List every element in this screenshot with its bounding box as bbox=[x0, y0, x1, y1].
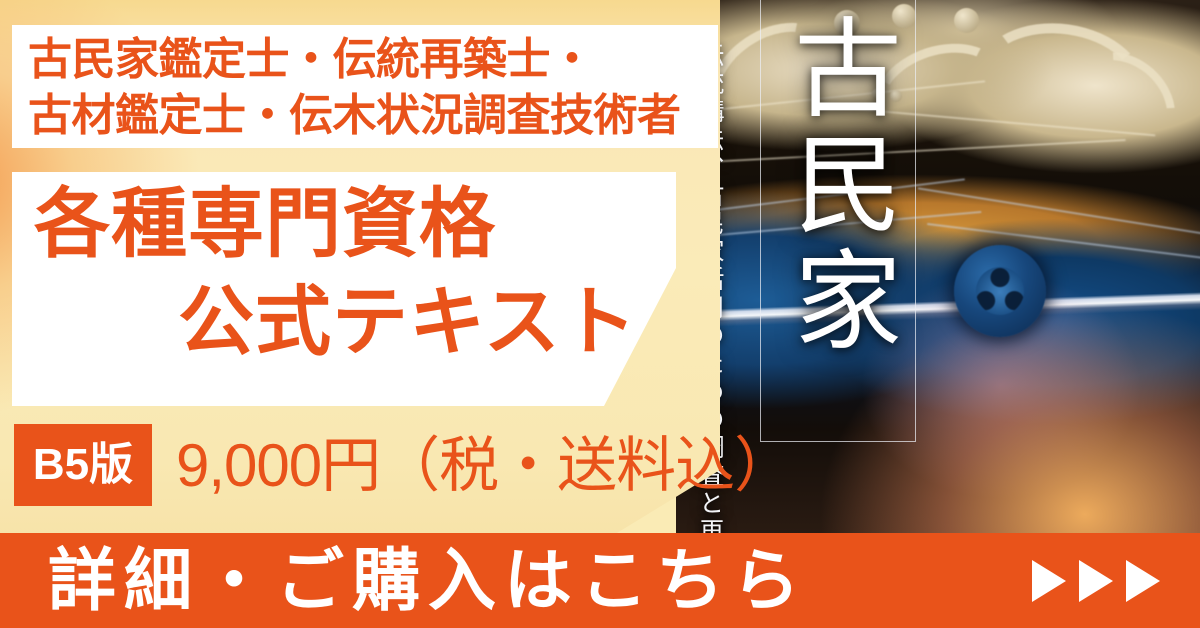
certification-line-1: 古民家鑑定士・伝統再築士・ bbox=[28, 32, 681, 88]
triangle-right-icon bbox=[1079, 560, 1113, 602]
family-crest-icon bbox=[954, 245, 1046, 337]
triangle-right-icon bbox=[1126, 560, 1160, 602]
cta-bar[interactable]: 詳細・ご購入はこちら bbox=[0, 533, 1200, 628]
cta-label: 詳細・ご購入はこちら bbox=[48, 547, 808, 615]
triangle-right-icon bbox=[1032, 560, 1066, 602]
certification-lines: 古民家鑑定士・伝統再築士・ 古材鑑定士・伝木状況調査技術者 bbox=[28, 32, 681, 144]
headline-box: 各種専門資格 公式テキスト bbox=[12, 172, 676, 406]
headline-line-1: 各種専門資格 bbox=[34, 180, 496, 270]
carving-bead bbox=[954, 8, 979, 33]
price-text: 9,000円（税・送料込） bbox=[176, 430, 793, 502]
cta-arrows bbox=[1032, 560, 1160, 602]
headline-line-2: 公式テキスト bbox=[178, 278, 638, 368]
cover-title: 古民家 bbox=[774, 12, 902, 360]
certification-line-2: 古材鑑定士・伝木状況調査技術者 bbox=[28, 88, 681, 144]
promo-banner: 古民家 伝統構法、古民家活用のための調査と再生の 古民家鑑定士・伝統再築士・ 古… bbox=[0, 0, 1200, 628]
format-badge-label: B5版 bbox=[14, 443, 152, 487]
format-badge: B5版 bbox=[14, 424, 152, 506]
certifications-box: 古民家鑑定士・伝統再築士・ 古材鑑定士・伝木状況調査技術者 bbox=[12, 25, 718, 148]
